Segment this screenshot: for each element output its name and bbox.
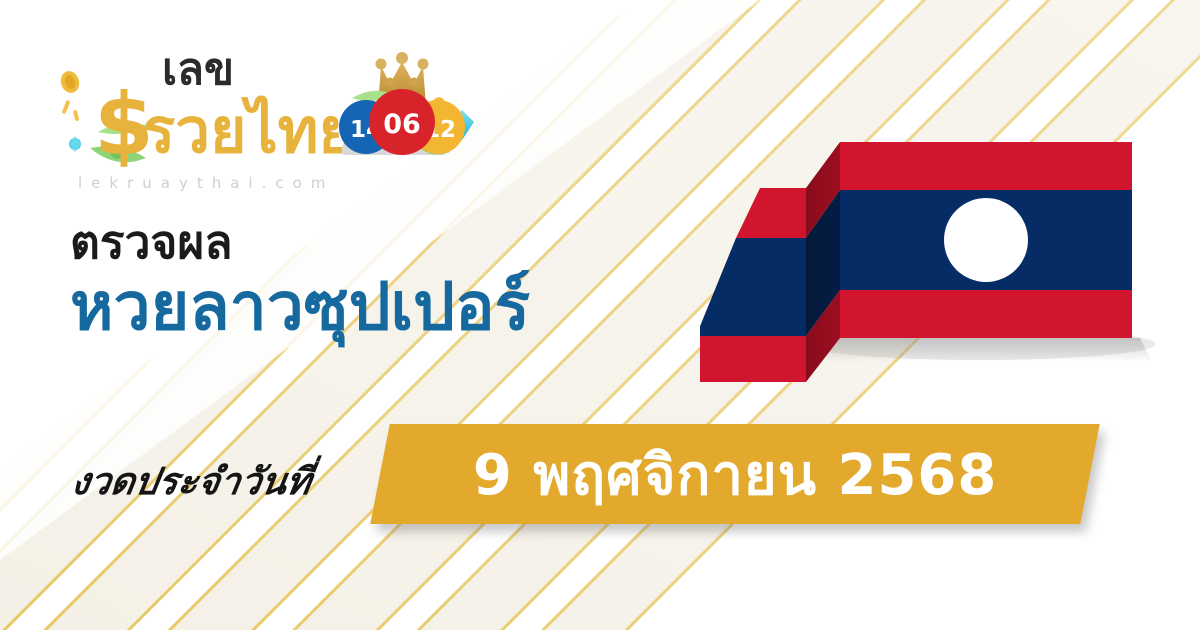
logo-confetti-icon xyxy=(58,69,82,152)
headline-line-1: ตรวจผล xyxy=(70,218,530,266)
site-logo[interactable]: เลข $ รวยไทย xyxy=(56,22,476,202)
laos-flag-graphic xyxy=(700,110,1160,420)
draw-date-banner-wrap: 9 พฤศจิกายน 2568 xyxy=(380,424,1090,524)
logo-domain-text: lekruaythai.com xyxy=(78,174,334,192)
promo-banner-canvas: เลข $ รวยไทย xyxy=(0,0,1200,630)
flag-main-face xyxy=(840,142,1132,338)
logo-top-text: เลข xyxy=(162,44,234,95)
draw-date-banner: 9 พฤศจิกายน 2568 xyxy=(370,424,1099,524)
headline-block: ตรวจผล หวยลาวซุปเปอร์ xyxy=(70,218,530,344)
headline-line-2: หวยลาวซุปเปอร์ xyxy=(70,270,530,344)
flag-band-top xyxy=(840,142,1132,190)
flag-left-fold xyxy=(700,188,806,382)
flag-band-bottom xyxy=(840,290,1132,338)
lottery-ball-cluster-icon: 14 12 06 xyxy=(339,52,474,155)
draw-date-text: 9 พฤศจิกายน 2568 xyxy=(439,430,1031,519)
logo-main-text: รวยไทย xyxy=(142,94,355,167)
draw-date-row: งวดประจำวันที่ xyxy=(72,452,311,511)
flag-white-disc xyxy=(944,198,1028,282)
draw-date-prefix-label: งวดประจำวันที่ xyxy=(67,452,315,511)
lottery-ball-red-number: 06 xyxy=(383,109,421,140)
